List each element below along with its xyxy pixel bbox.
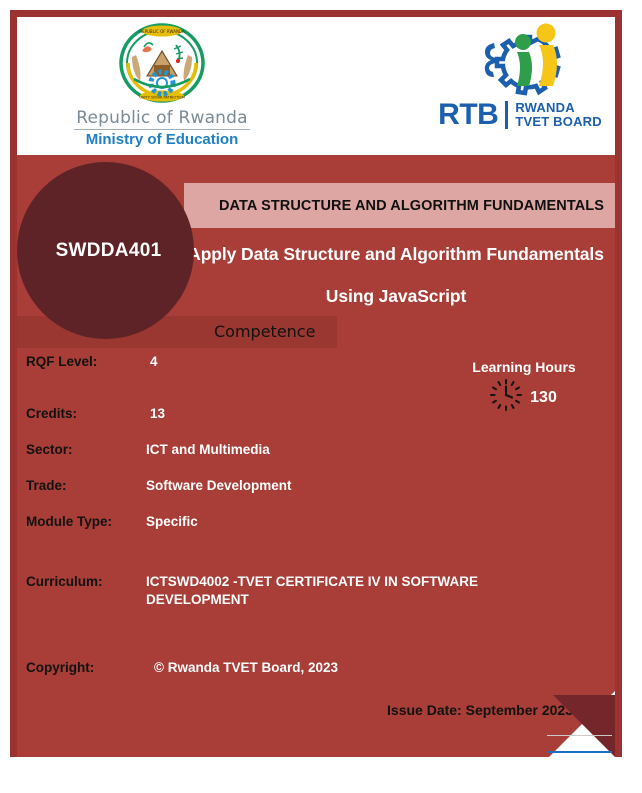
issue-date: Issue Date: September 2023 bbox=[17, 702, 573, 718]
detail-label: Curriculum: bbox=[26, 573, 146, 591]
learning-hours-block: Learning Hours bbox=[428, 358, 608, 417]
clock-icon bbox=[489, 378, 523, 417]
detail-value: 13 bbox=[146, 405, 165, 423]
rtb-name-line2: TVET BOARD bbox=[515, 115, 602, 129]
detail-label: Trade: bbox=[26, 477, 146, 495]
rwanda-coat-of-arms-icon: REPUBLIC OF RWANDA UNITY WORK PATRIOTISM bbox=[114, 21, 210, 109]
detail-value: Software Development bbox=[146, 477, 292, 495]
detail-value: ICT and Multimedia bbox=[146, 441, 270, 459]
ministry-of-education-logo: REPUBLIC OF RWANDA UNITY WORK PATRIOTISM… bbox=[57, 19, 267, 147]
moe-line2: Ministry of Education bbox=[57, 131, 267, 149]
learning-hours-value: 130 bbox=[530, 389, 557, 407]
detail-value: © Rwanda TVET Board, 2023 bbox=[146, 659, 338, 677]
rtb-divider bbox=[505, 101, 508, 129]
detail-label: Credits: bbox=[26, 405, 146, 423]
detail-row-module-type: Module Type: Specific bbox=[26, 513, 606, 531]
module-subtitle: Apply Data Structure and Algorithm Funda… bbox=[177, 233, 615, 317]
competence-label: Competence bbox=[214, 320, 315, 344]
detail-row-sector: Sector: ICT and Multimedia bbox=[26, 441, 606, 459]
detail-label: Sector: bbox=[26, 441, 146, 459]
rtb-gear-people-icon bbox=[460, 21, 580, 99]
page-curl-shadow bbox=[553, 695, 615, 757]
module-code: SWDDA401 bbox=[50, 240, 162, 262]
rtb-name-line1: RWANDA bbox=[515, 101, 602, 115]
moe-line1: Republic of Rwanda bbox=[74, 109, 250, 130]
detail-value: Specific bbox=[146, 513, 198, 531]
learning-hours-title: Learning Hours bbox=[428, 358, 608, 376]
svg-text:REPUBLIC OF RWANDA: REPUBLIC OF RWANDA bbox=[139, 29, 185, 34]
detail-value: ICTSWD4002 -TVET CERTIFICATE IV IN SOFTW… bbox=[146, 573, 478, 609]
module-title-strip: DATA STRUCTURE AND ALGORITHM FUNDAMENTAL… bbox=[184, 183, 615, 228]
detail-label: Copyright: bbox=[26, 659, 146, 677]
svg-text:UNITY WORK PATRIOTISM: UNITY WORK PATRIOTISM bbox=[139, 96, 185, 100]
detail-row-copyright: Copyright: © Rwanda TVET Board, 2023 bbox=[26, 659, 606, 677]
module-cover-body: SWDDA401 DATA STRUCTURE AND ALGORITHM FU… bbox=[17, 155, 615, 757]
detail-label: Module Type: bbox=[26, 513, 146, 531]
rtb-wordmark: RTB RWANDA TVET BOARD bbox=[415, 100, 625, 130]
detail-value: 4 bbox=[146, 353, 158, 371]
module-code-badge: SWDDA401 bbox=[17, 162, 194, 339]
rtb-logo: RTB RWANDA TVET BOARD bbox=[415, 21, 625, 147]
rtb-acronym: RTB bbox=[438, 100, 498, 130]
footer-rule-gray bbox=[547, 735, 612, 736]
module-title: DATA STRUCTURE AND ALGORITHM FUNDAMENTAL… bbox=[195, 198, 604, 214]
detail-label: RQF Level: bbox=[26, 353, 146, 371]
footer-rule-blue bbox=[547, 751, 612, 753]
module-subtitle-line2: Using JavaScript bbox=[177, 275, 615, 317]
header-logo-band: REPUBLIC OF RWANDA UNITY WORK PATRIOTISM… bbox=[17, 17, 615, 148]
module-subtitle-line1: Apply Data Structure and Algorithm Funda… bbox=[177, 233, 615, 275]
detail-row-curriculum: Curriculum: ICTSWD4002 -TVET CERTIFICATE… bbox=[26, 573, 606, 609]
detail-row-trade: Trade: Software Development bbox=[26, 477, 606, 495]
